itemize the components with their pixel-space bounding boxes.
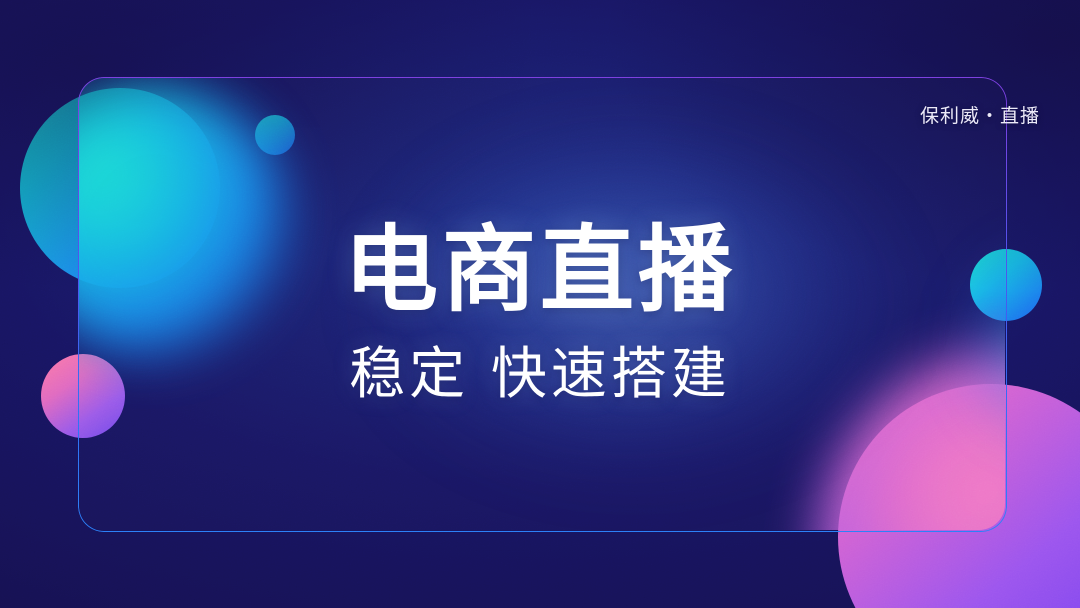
glass-card-panel <box>78 77 1005 530</box>
center-headline-glow <box>378 137 898 477</box>
teal-glow-left <box>78 88 288 356</box>
brand-label: 保利威・直播 <box>920 101 1040 128</box>
promo-slide: 保利威・直播 电商直播 稳定 快速搭建 <box>0 0 1080 608</box>
